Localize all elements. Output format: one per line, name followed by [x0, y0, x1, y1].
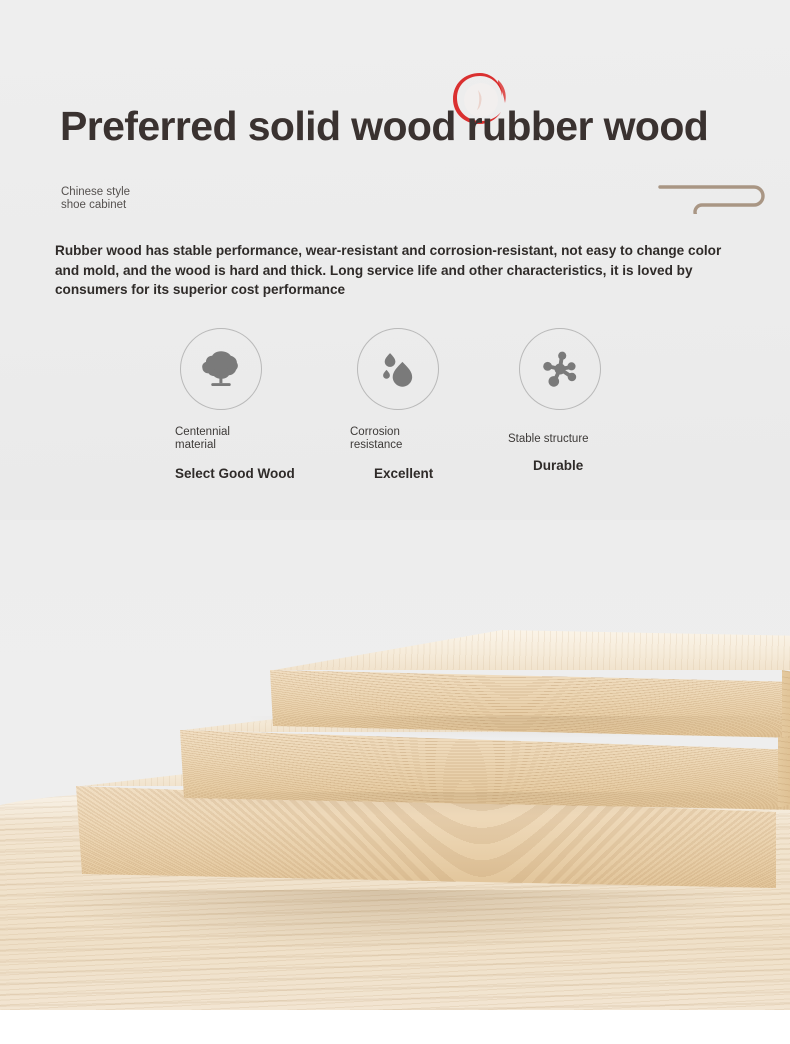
- feature-icon-circle: [180, 328, 262, 410]
- feature-icon-circle: [519, 328, 601, 410]
- page-subtitle: Chinese style shoe cabinet: [61, 186, 130, 211]
- board-gap-shadow-upper: [250, 716, 790, 738]
- feature-label-small: Corrosion resistance: [350, 426, 439, 452]
- product-detail-page: 福运居旗舰店福运居旗舰店福运居旗舰店福运居旗舰店福运居旗舰店福运居旗舰店福运居旗…: [0, 0, 790, 1044]
- water-droplets-icon: [375, 346, 421, 392]
- subtitle-line-1: Chinese style: [61, 186, 130, 199]
- tree-icon: [198, 346, 244, 392]
- feature-label-small-line2: resistance: [350, 439, 439, 452]
- feature-list: Centennial material Select Good Wood Cor…: [0, 328, 790, 508]
- board-gap-shadow-lower: [140, 792, 790, 816]
- feature-label-big: Durable: [533, 458, 601, 473]
- feature-label-small-line2: material: [175, 439, 295, 452]
- feature-label-big: Excellent: [374, 466, 439, 481]
- feature-label-small: Stable structure: [508, 433, 601, 446]
- feature-label-big: Select Good Wood: [175, 466, 295, 481]
- feature-label-small-line1: Centennial: [175, 426, 295, 439]
- product-description: Rubber wood has stable performance, wear…: [55, 241, 745, 300]
- stacked-rubber-wood-boards-photo: [0, 520, 790, 1044]
- photo-bottom-margin: [0, 1010, 790, 1044]
- chinese-cloud-motif-icon: [658, 178, 784, 214]
- feature-label-small-line1: Corrosion: [350, 426, 439, 439]
- feature-icon-circle: [357, 328, 439, 410]
- page-title: Preferred solid wood rubber wood: [60, 103, 708, 150]
- molecule-structure-icon: [537, 346, 583, 392]
- feature-label-small: Centennial material: [175, 426, 295, 452]
- feature-item-centennial-material: Centennial material Select Good Wood: [180, 328, 295, 481]
- subtitle-line-2: shoe cabinet: [61, 199, 130, 212]
- feature-label-small-line1: Stable structure: [508, 433, 601, 446]
- board-top-surface: [262, 630, 790, 670]
- feature-item-stable-structure: Stable structure Durable: [519, 328, 601, 473]
- feature-item-corrosion-resistance: Corrosion resistance Excellent: [357, 328, 439, 481]
